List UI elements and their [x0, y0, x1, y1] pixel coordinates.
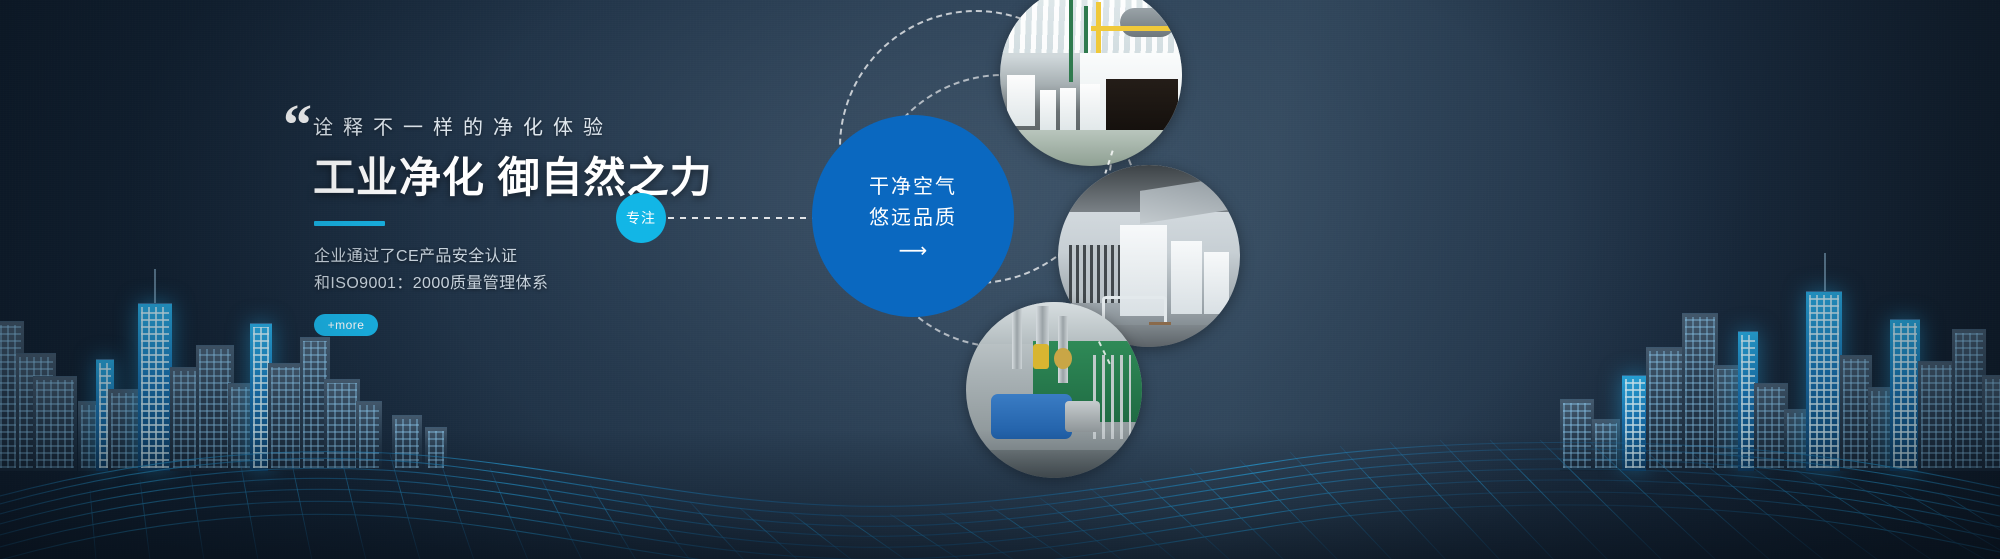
wireframe-terrain-mesh	[0, 384, 2000, 559]
plant-cabinet	[1060, 88, 1076, 132]
plant-tank	[1120, 8, 1175, 37]
hero-banner: “ 诠释不一样的净化体验 工业净化 御自然之力 企业通过了CE产品安全认证 和I…	[0, 0, 2000, 559]
plant-cabinet	[1007, 75, 1034, 126]
industrial-plant-photo	[1000, 0, 1182, 166]
plant-floor	[1000, 130, 1182, 166]
plant-rail	[1091, 26, 1182, 31]
hero-subheadline: 诠释不一样的净化体验	[313, 96, 903, 138]
plant-cabinet	[1080, 84, 1100, 135]
building-antenna	[1824, 253, 1826, 291]
accent-divider-bar	[314, 221, 385, 226]
quote-mark-icon: “	[283, 96, 310, 154]
slogan-line-1: 干净空气	[869, 172, 957, 203]
dashed-connector-line	[668, 217, 814, 219]
building-antenna	[154, 269, 156, 303]
plant-beam	[1069, 0, 1073, 82]
photo-content	[1000, 0, 1182, 166]
plant-cabinet	[1040, 90, 1056, 130]
